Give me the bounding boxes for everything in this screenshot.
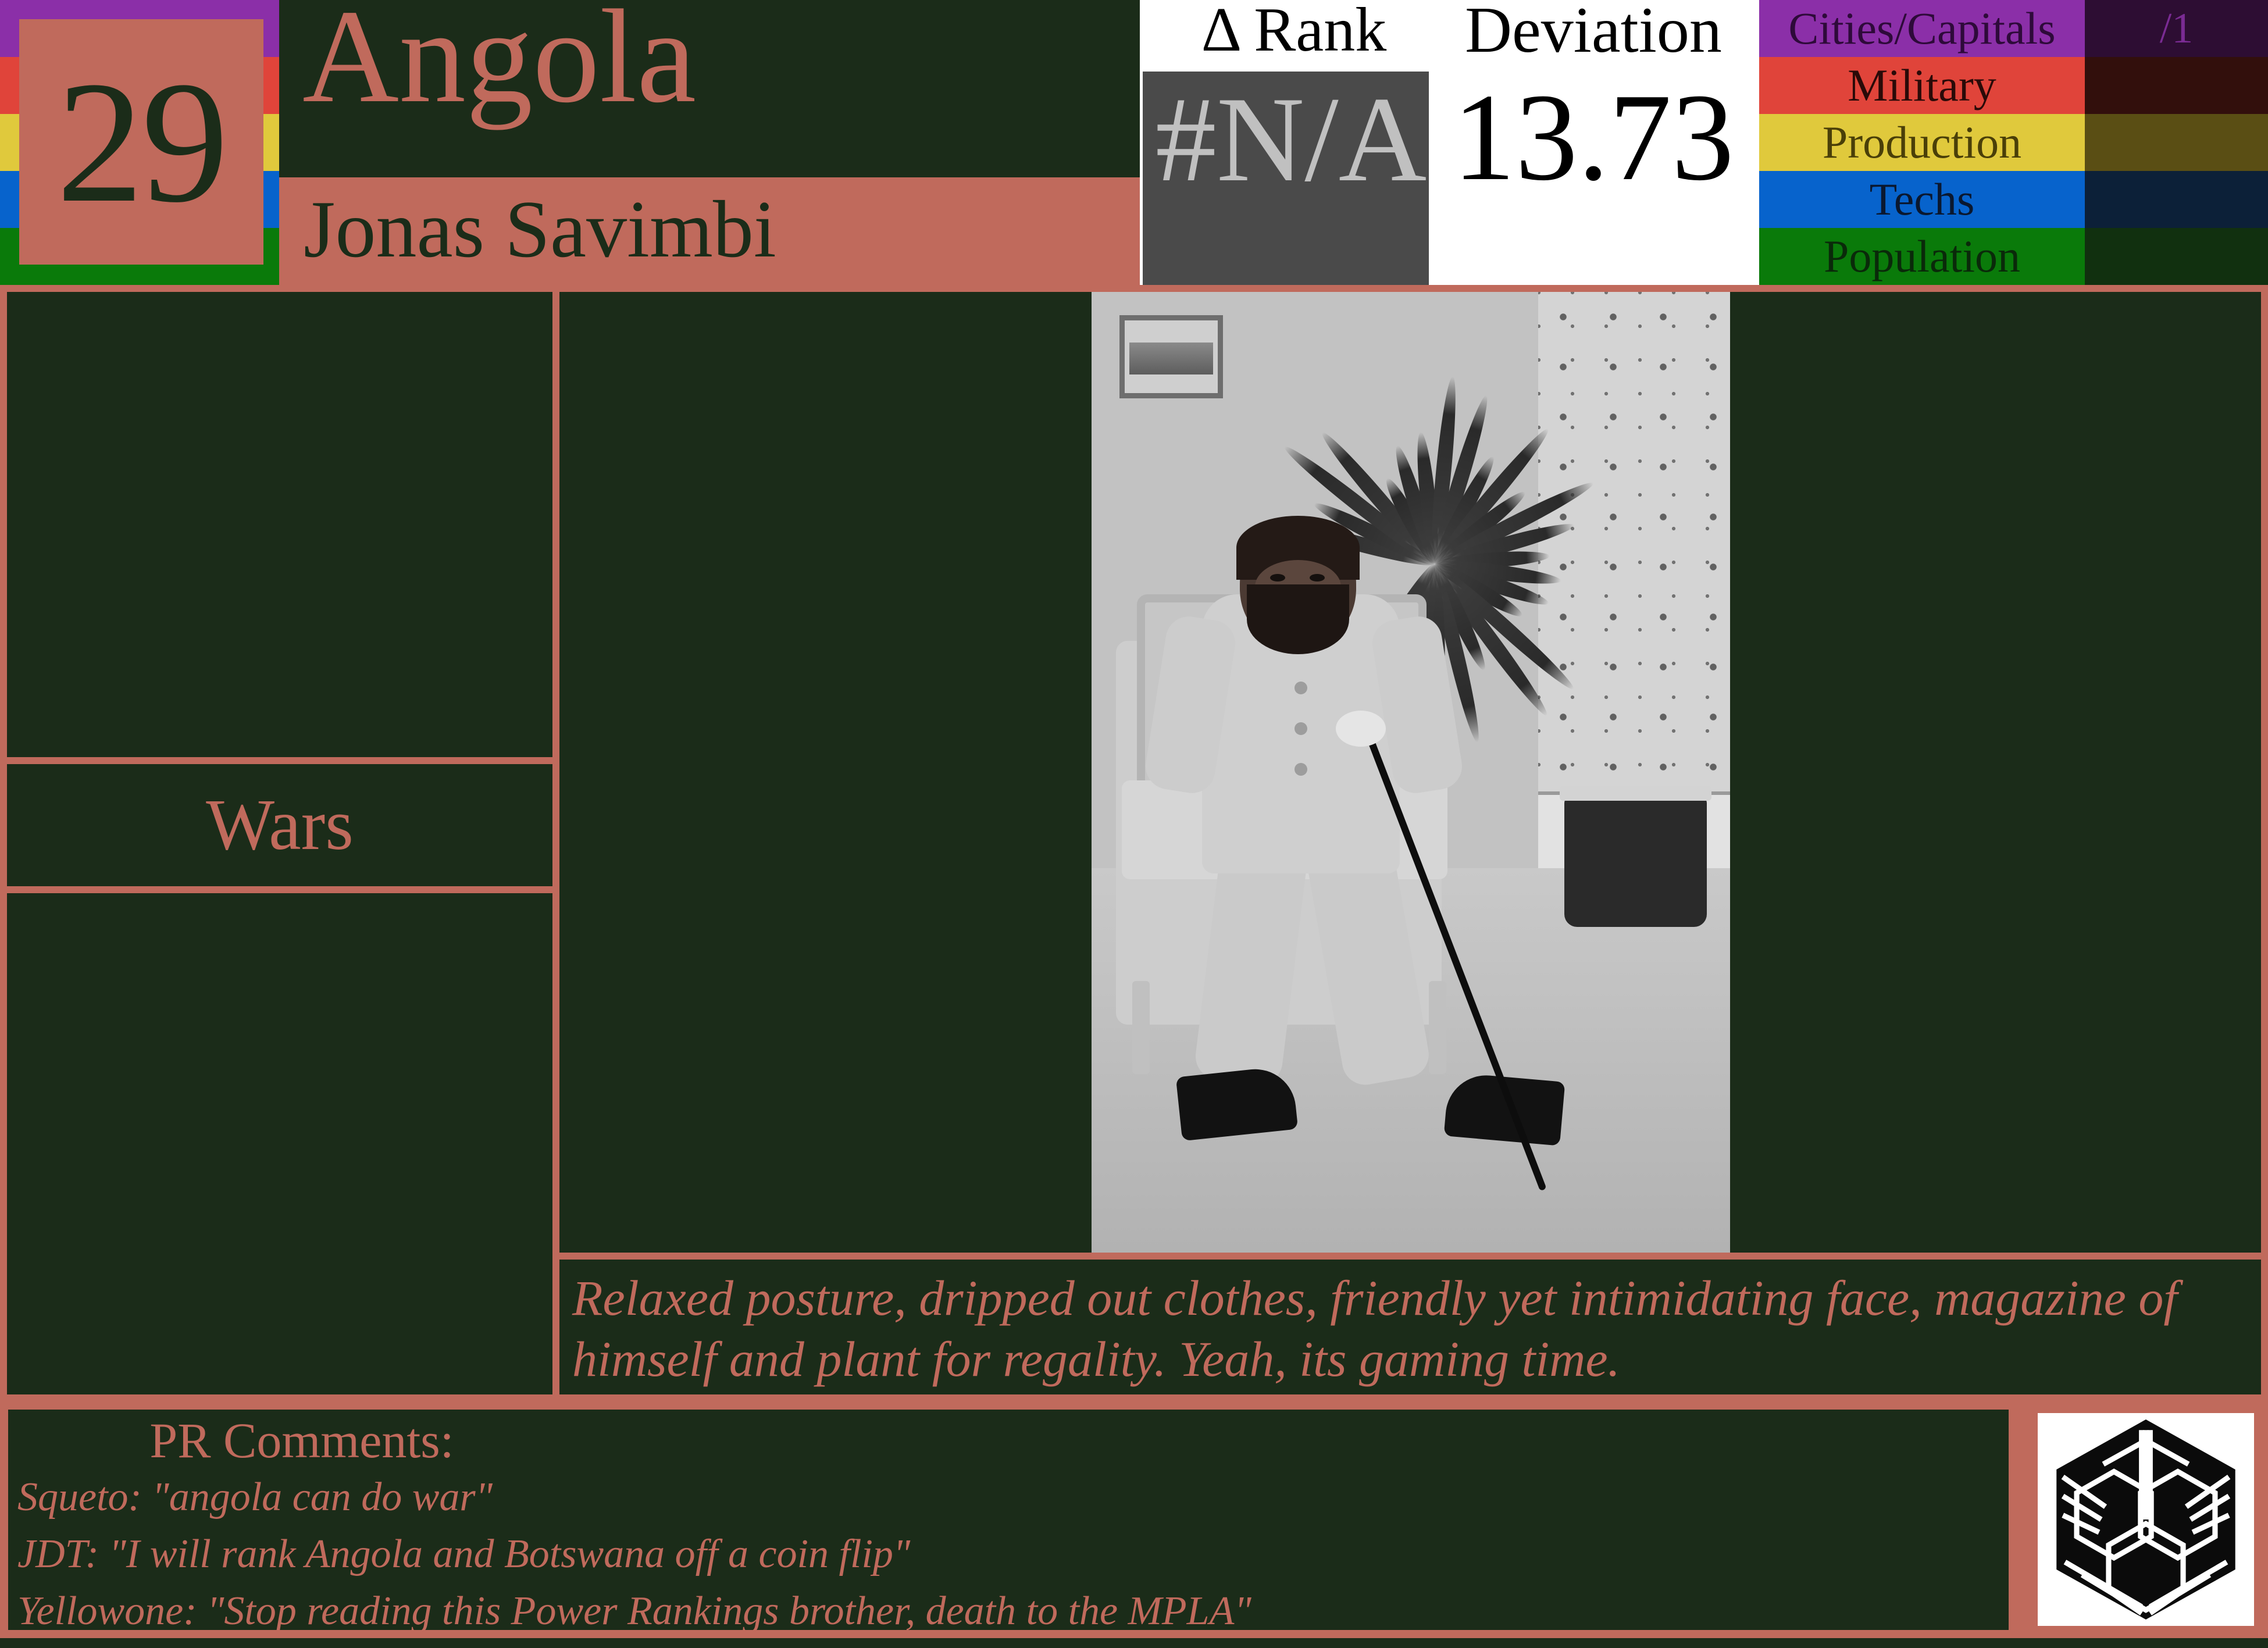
rank-number: 29	[56, 55, 226, 229]
description-panel: Relaxed posture, dripped out clothes, fr…	[559, 1260, 2261, 1394]
stat-label: Techs	[1759, 171, 2085, 228]
stat-value	[2085, 114, 2268, 171]
rank-badge-area: 29	[0, 0, 279, 285]
photo-hand	[1336, 711, 1386, 747]
stat-label: Military	[1759, 57, 2085, 114]
stat-row-cities: Cities/Capitals /1	[1759, 0, 2268, 57]
title-area: Angola Jonas Savimbi	[279, 0, 1140, 285]
stat-row-population: Population	[1759, 228, 2268, 285]
stat-label: Cities/Capitals	[1759, 0, 2085, 57]
wars-panel: Wars	[7, 764, 552, 886]
pr-comments-list: Squeto: "angola can do war" JDT: "I will…	[17, 1477, 1995, 1648]
photo-side-table	[1564, 796, 1707, 927]
deviation-label: Deviation	[1425, 0, 1762, 63]
stat-row-production: Production	[1759, 114, 2268, 171]
stat-label: Production	[1759, 114, 2085, 171]
right-column: Relaxed posture, dripped out clothes, fr…	[559, 292, 2261, 1394]
pr-comment: Yellowone: "Stop reading this Power Rank…	[17, 1591, 1995, 1632]
deviation-value: 13.73	[1419, 74, 1768, 199]
photo-head	[1240, 522, 1356, 647]
description-text: Relaxed posture, dripped out clothes, fr…	[572, 1268, 2241, 1390]
pr-comment: JDT: "I will rank Angola and Botswana of…	[17, 1534, 1995, 1575]
photo-chair-leg	[1132, 981, 1150, 1074]
stat-label: Population	[1759, 228, 2085, 285]
leader-portrait-photo	[1092, 292, 1730, 1253]
pr-comment: Squeto: "angola can do war"	[17, 1477, 1995, 1518]
photo-picture-frame	[1119, 315, 1223, 398]
left-panel-bottom	[7, 893, 552, 1394]
leader-name: Jonas Savimbi	[304, 174, 776, 284]
pr-comments-title: PR Comments:	[8, 1415, 595, 1465]
stat-value	[2085, 228, 2268, 285]
card-header: 29 Angola Jonas Savimbi Δ Rank Deviation…	[0, 0, 2268, 285]
photo-panel	[559, 292, 2261, 1253]
country-name: Angola	[302, 0, 696, 123]
wars-label: Wars	[206, 789, 354, 862]
stat-rows: Cities/Capitals /1 Military Production T…	[1759, 0, 2268, 285]
pr-comments-panel: PR Comments: Squeto: "angola can do war"…	[8, 1410, 2009, 1630]
power-ranking-card: 29 Angola Jonas Savimbi Δ Rank Deviation…	[0, 0, 2268, 1638]
delta-rank-value: #N/A	[1140, 79, 1442, 201]
hex-cluster-icon	[2038, 1413, 2254, 1626]
card-body: Wars	[0, 285, 2268, 1401]
stat-row-military: Military	[1759, 57, 2268, 114]
photo-chair-leg	[1429, 981, 1446, 1074]
stat-value	[2085, 171, 2268, 228]
rank-badge: 29	[19, 19, 263, 265]
left-panel-top	[7, 292, 552, 757]
card-footer: PR Comments: Squeto: "angola can do war"…	[0, 1401, 2268, 1638]
left-column: Wars	[7, 292, 552, 1394]
stat-value	[2085, 57, 2268, 114]
brand-logo	[2038, 1413, 2254, 1626]
stat-row-techs: Techs	[1759, 171, 2268, 228]
photo-beard	[1247, 584, 1349, 654]
stat-value: /1	[2085, 0, 2268, 57]
delta-rank-label: Δ Rank	[1149, 0, 1439, 62]
